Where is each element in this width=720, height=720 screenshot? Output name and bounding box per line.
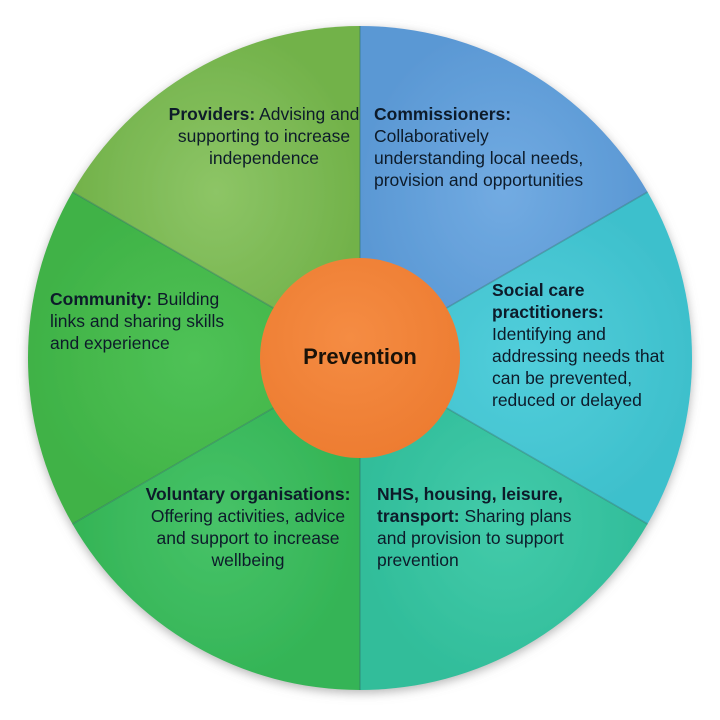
center-hub-circle[interactable] xyxy=(260,258,460,458)
wheel-svg xyxy=(0,0,720,720)
prevention-wheel-diagram: Providers: Advising and supporting to in… xyxy=(0,0,720,720)
